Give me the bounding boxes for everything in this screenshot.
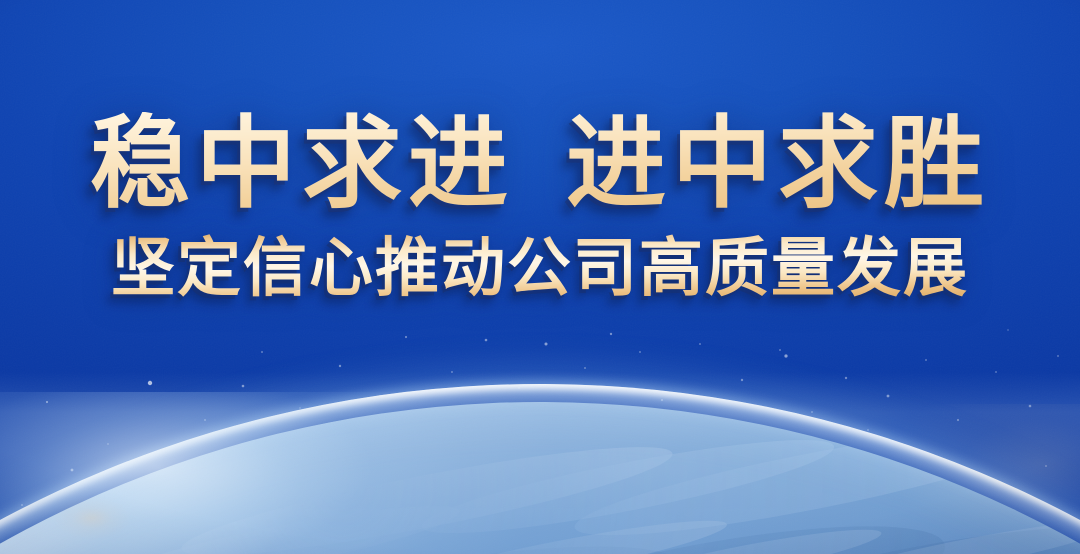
subheadline: 坚定信心推动公司高质量发展 — [0, 234, 1080, 302]
headline-phrase-1: 稳中求进 — [90, 108, 514, 220]
headline: 稳中求进进中求胜 — [0, 112, 1080, 216]
headline-block: 稳中求进进中求胜 坚定信心推动公司高质量发展 — [0, 112, 1080, 302]
banner-canvas: 稳中求进进中求胜 坚定信心推动公司高质量发展 — [0, 0, 1080, 554]
headline-phrase-2: 进中求胜 — [566, 108, 990, 220]
